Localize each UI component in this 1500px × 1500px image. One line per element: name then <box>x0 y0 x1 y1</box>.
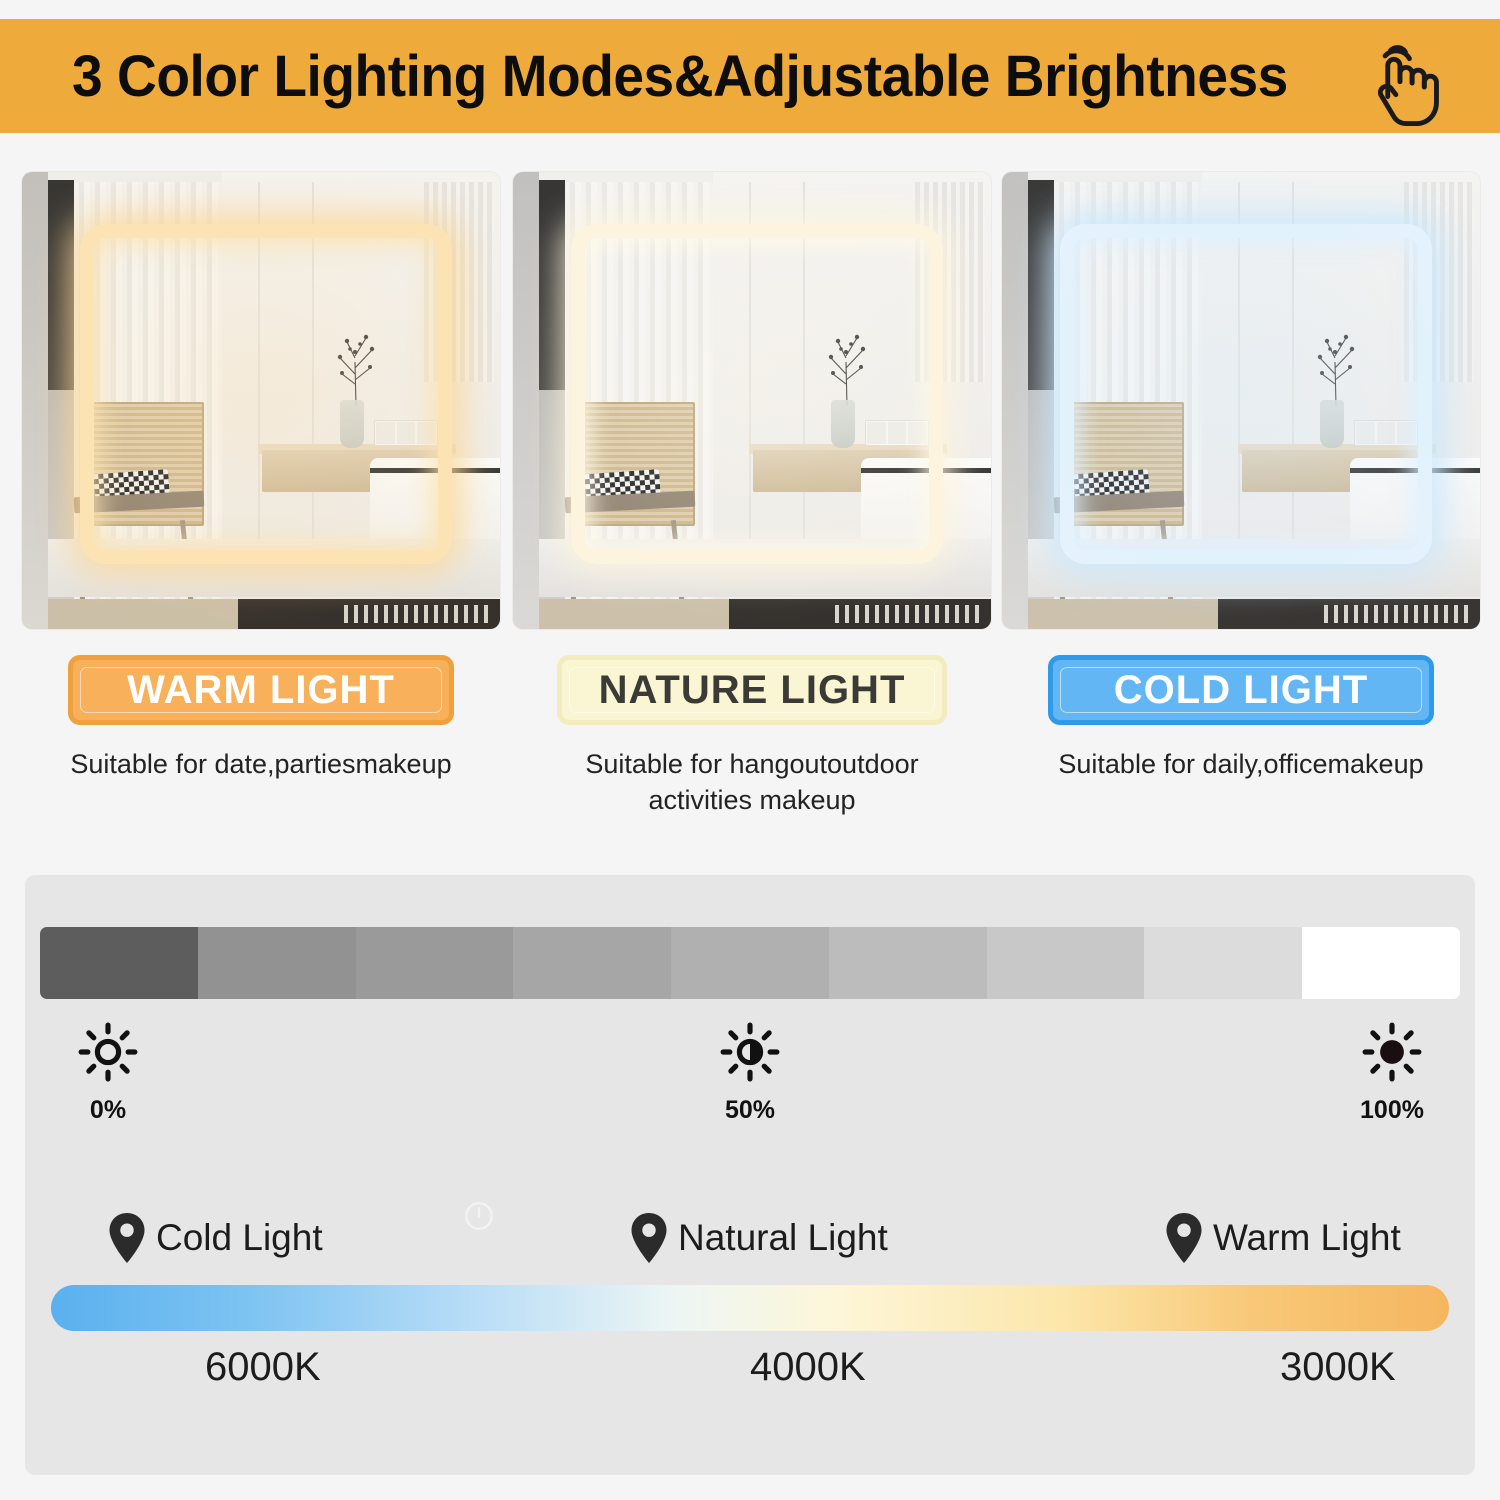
brightness-ticks: 0% 50% 100% <box>40 1021 1460 1131</box>
mode-photo-warm <box>22 172 500 629</box>
kelvin-value-3000: 3000K <box>1280 1345 1396 1390</box>
power-watermark-icon <box>462 1199 496 1233</box>
led-mirror-warm <box>80 224 452 564</box>
brightness-tick-2: 100% <box>1332 1021 1452 1125</box>
sun-half-icon <box>719 1021 781 1083</box>
mode-card-nature[interactable]: NATURE LIGHT Suitable for hangoutoutdoor… <box>513 172 991 818</box>
color-temp-markers: Cold Light Natural Light Warm Light <box>40 1213 1460 1277</box>
mode-photo-cold <box>1002 172 1480 629</box>
brightness-bar[interactable] <box>40 927 1460 999</box>
color-temp-marker-warm: Warm Light <box>1165 1213 1401 1263</box>
adjustment-panel: 0% 50% 100% <box>25 875 1475 1475</box>
mode-label-text: COLD LIGHT <box>1114 668 1368 713</box>
page-title: 3 Color Lighting Modes&Adjustable Bright… <box>72 43 1288 110</box>
map-pin-icon <box>108 1213 146 1263</box>
brightness-segment <box>829 927 987 999</box>
led-mirror-cold <box>1060 224 1432 564</box>
color-temp-marker-cold: Cold Light <box>108 1213 323 1263</box>
brightness-tick-label: 0% <box>48 1096 168 1125</box>
header-banner: 3 Color Lighting Modes&Adjustable Bright… <box>0 19 1500 133</box>
mode-card-cold[interactable]: COLD LIGHT Suitable for daily,officemake… <box>1002 172 1480 783</box>
brightness-tick-1: 50% <box>690 1021 810 1125</box>
marker-label: Warm Light <box>1213 1217 1401 1259</box>
mode-card-warm[interactable]: WARM LIGHT Suitable for date,partiesmake… <box>22 172 500 783</box>
kelvin-value-4000: 4000K <box>750 1345 866 1390</box>
kelvin-value-6000: 6000K <box>205 1345 321 1390</box>
brightness-segment <box>987 927 1145 999</box>
color-temperature-bar[interactable] <box>51 1285 1449 1331</box>
brightness-segment <box>1144 927 1302 999</box>
mode-label-text: WARM LIGHT <box>127 668 395 713</box>
hand-pointer-icon <box>1360 37 1448 129</box>
mode-photo-nature <box>513 172 991 629</box>
mode-caption-warm: Suitable for date,partiesmakeup <box>22 747 500 783</box>
brightness-segment <box>671 927 829 999</box>
brightness-tick-label: 100% <box>1332 1096 1452 1125</box>
brightness-segment <box>198 927 356 999</box>
mode-caption-cold: Suitable for daily,officemakeup <box>1002 747 1480 783</box>
color-temp-marker-natural: Natural Light <box>630 1213 888 1263</box>
mode-label-text: NATURE LIGHT <box>599 668 906 713</box>
mode-label-nature[interactable]: NATURE LIGHT <box>557 655 947 725</box>
marker-label: Cold Light <box>156 1217 323 1259</box>
sun-low-icon <box>77 1021 139 1083</box>
map-pin-icon <box>1165 1213 1203 1263</box>
brightness-segment <box>1302 927 1460 999</box>
mode-label-warm[interactable]: WARM LIGHT <box>68 655 454 725</box>
brightness-tick-0: 0% <box>48 1021 168 1125</box>
map-pin-icon <box>630 1213 668 1263</box>
caption-line-2: activities makeup <box>513 783 991 819</box>
mode-caption-nature: Suitable for hangoutoutdoor activities m… <box>513 747 991 818</box>
mode-label-cold[interactable]: COLD LIGHT <box>1048 655 1434 725</box>
brightness-segment <box>40 927 198 999</box>
brightness-tick-label: 50% <box>690 1096 810 1125</box>
led-mirror-nature <box>571 224 943 564</box>
brightness-segment <box>513 927 671 999</box>
sun-full-icon <box>1361 1021 1423 1083</box>
caption-line-1: Suitable for hangoutoutdoor <box>513 747 991 783</box>
color-temperature-values: 6000K 4000K 3000K <box>40 1345 1460 1405</box>
brightness-segment <box>356 927 514 999</box>
marker-label: Natural Light <box>678 1217 888 1259</box>
